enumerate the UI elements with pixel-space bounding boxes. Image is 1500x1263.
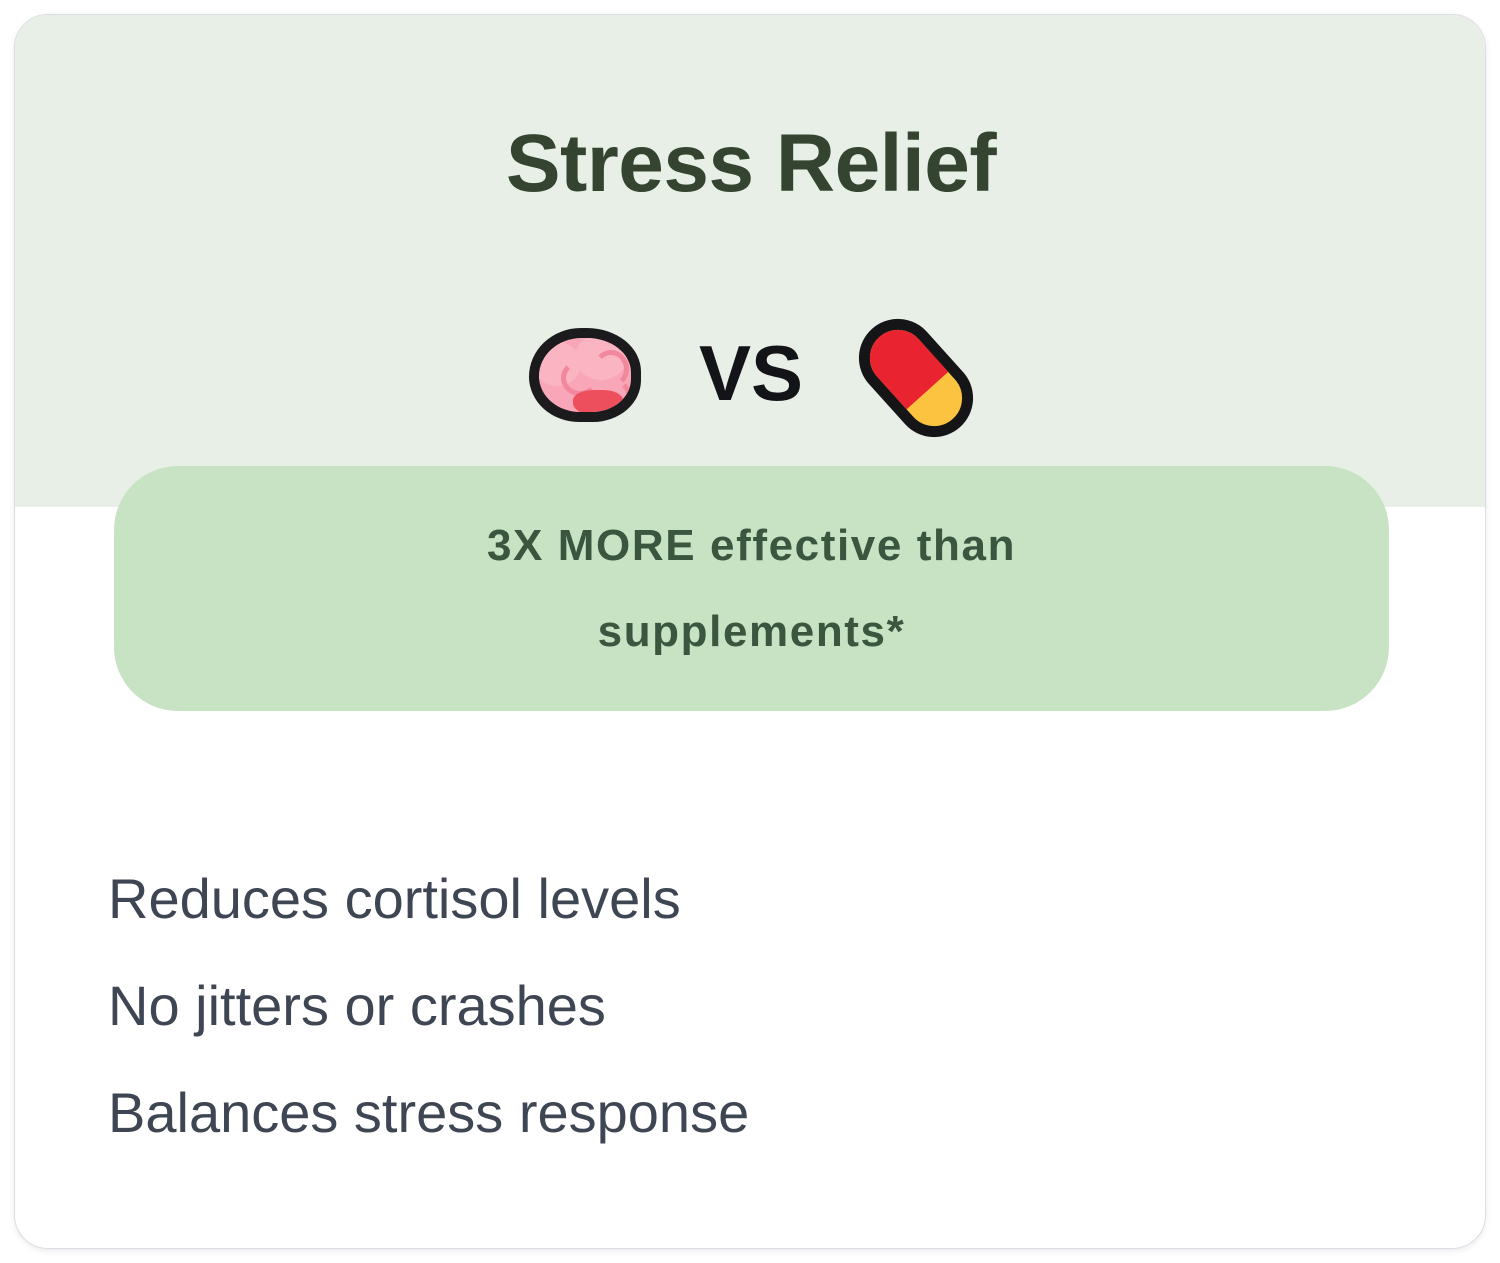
benefit-list: Reduces cortisol levels No jitters or cr… xyxy=(108,845,1308,1166)
pill-icon xyxy=(855,314,979,438)
list-item: Balances stress response xyxy=(108,1059,1308,1166)
list-item: Reduces cortisol levels xyxy=(108,845,1308,952)
brain-icon xyxy=(523,314,647,438)
brain-stem xyxy=(573,390,623,412)
versus-label: VS xyxy=(699,334,803,418)
badge-line-2: supplements* xyxy=(598,607,906,656)
list-item: No jitters or crashes xyxy=(108,952,1308,1059)
effectiveness-badge-text: 3X MORE effective than supplements* xyxy=(487,503,1016,675)
badge-line-1: 3X MORE effective than xyxy=(487,521,1016,570)
pill-red-half xyxy=(853,313,945,405)
comparison-row: VS xyxy=(15,301,1486,451)
pill-capsule xyxy=(843,303,989,453)
effectiveness-badge: 3X MORE effective than supplements* xyxy=(114,466,1389,711)
screenshot-stage: Stress Relief VS xyxy=(0,0,1500,1263)
brain-body xyxy=(539,338,631,412)
card-header-panel: Stress Relief VS xyxy=(15,15,1486,507)
page-title: Stress Relief xyxy=(15,123,1486,205)
product-benefit-card: Stress Relief VS xyxy=(14,14,1486,1249)
